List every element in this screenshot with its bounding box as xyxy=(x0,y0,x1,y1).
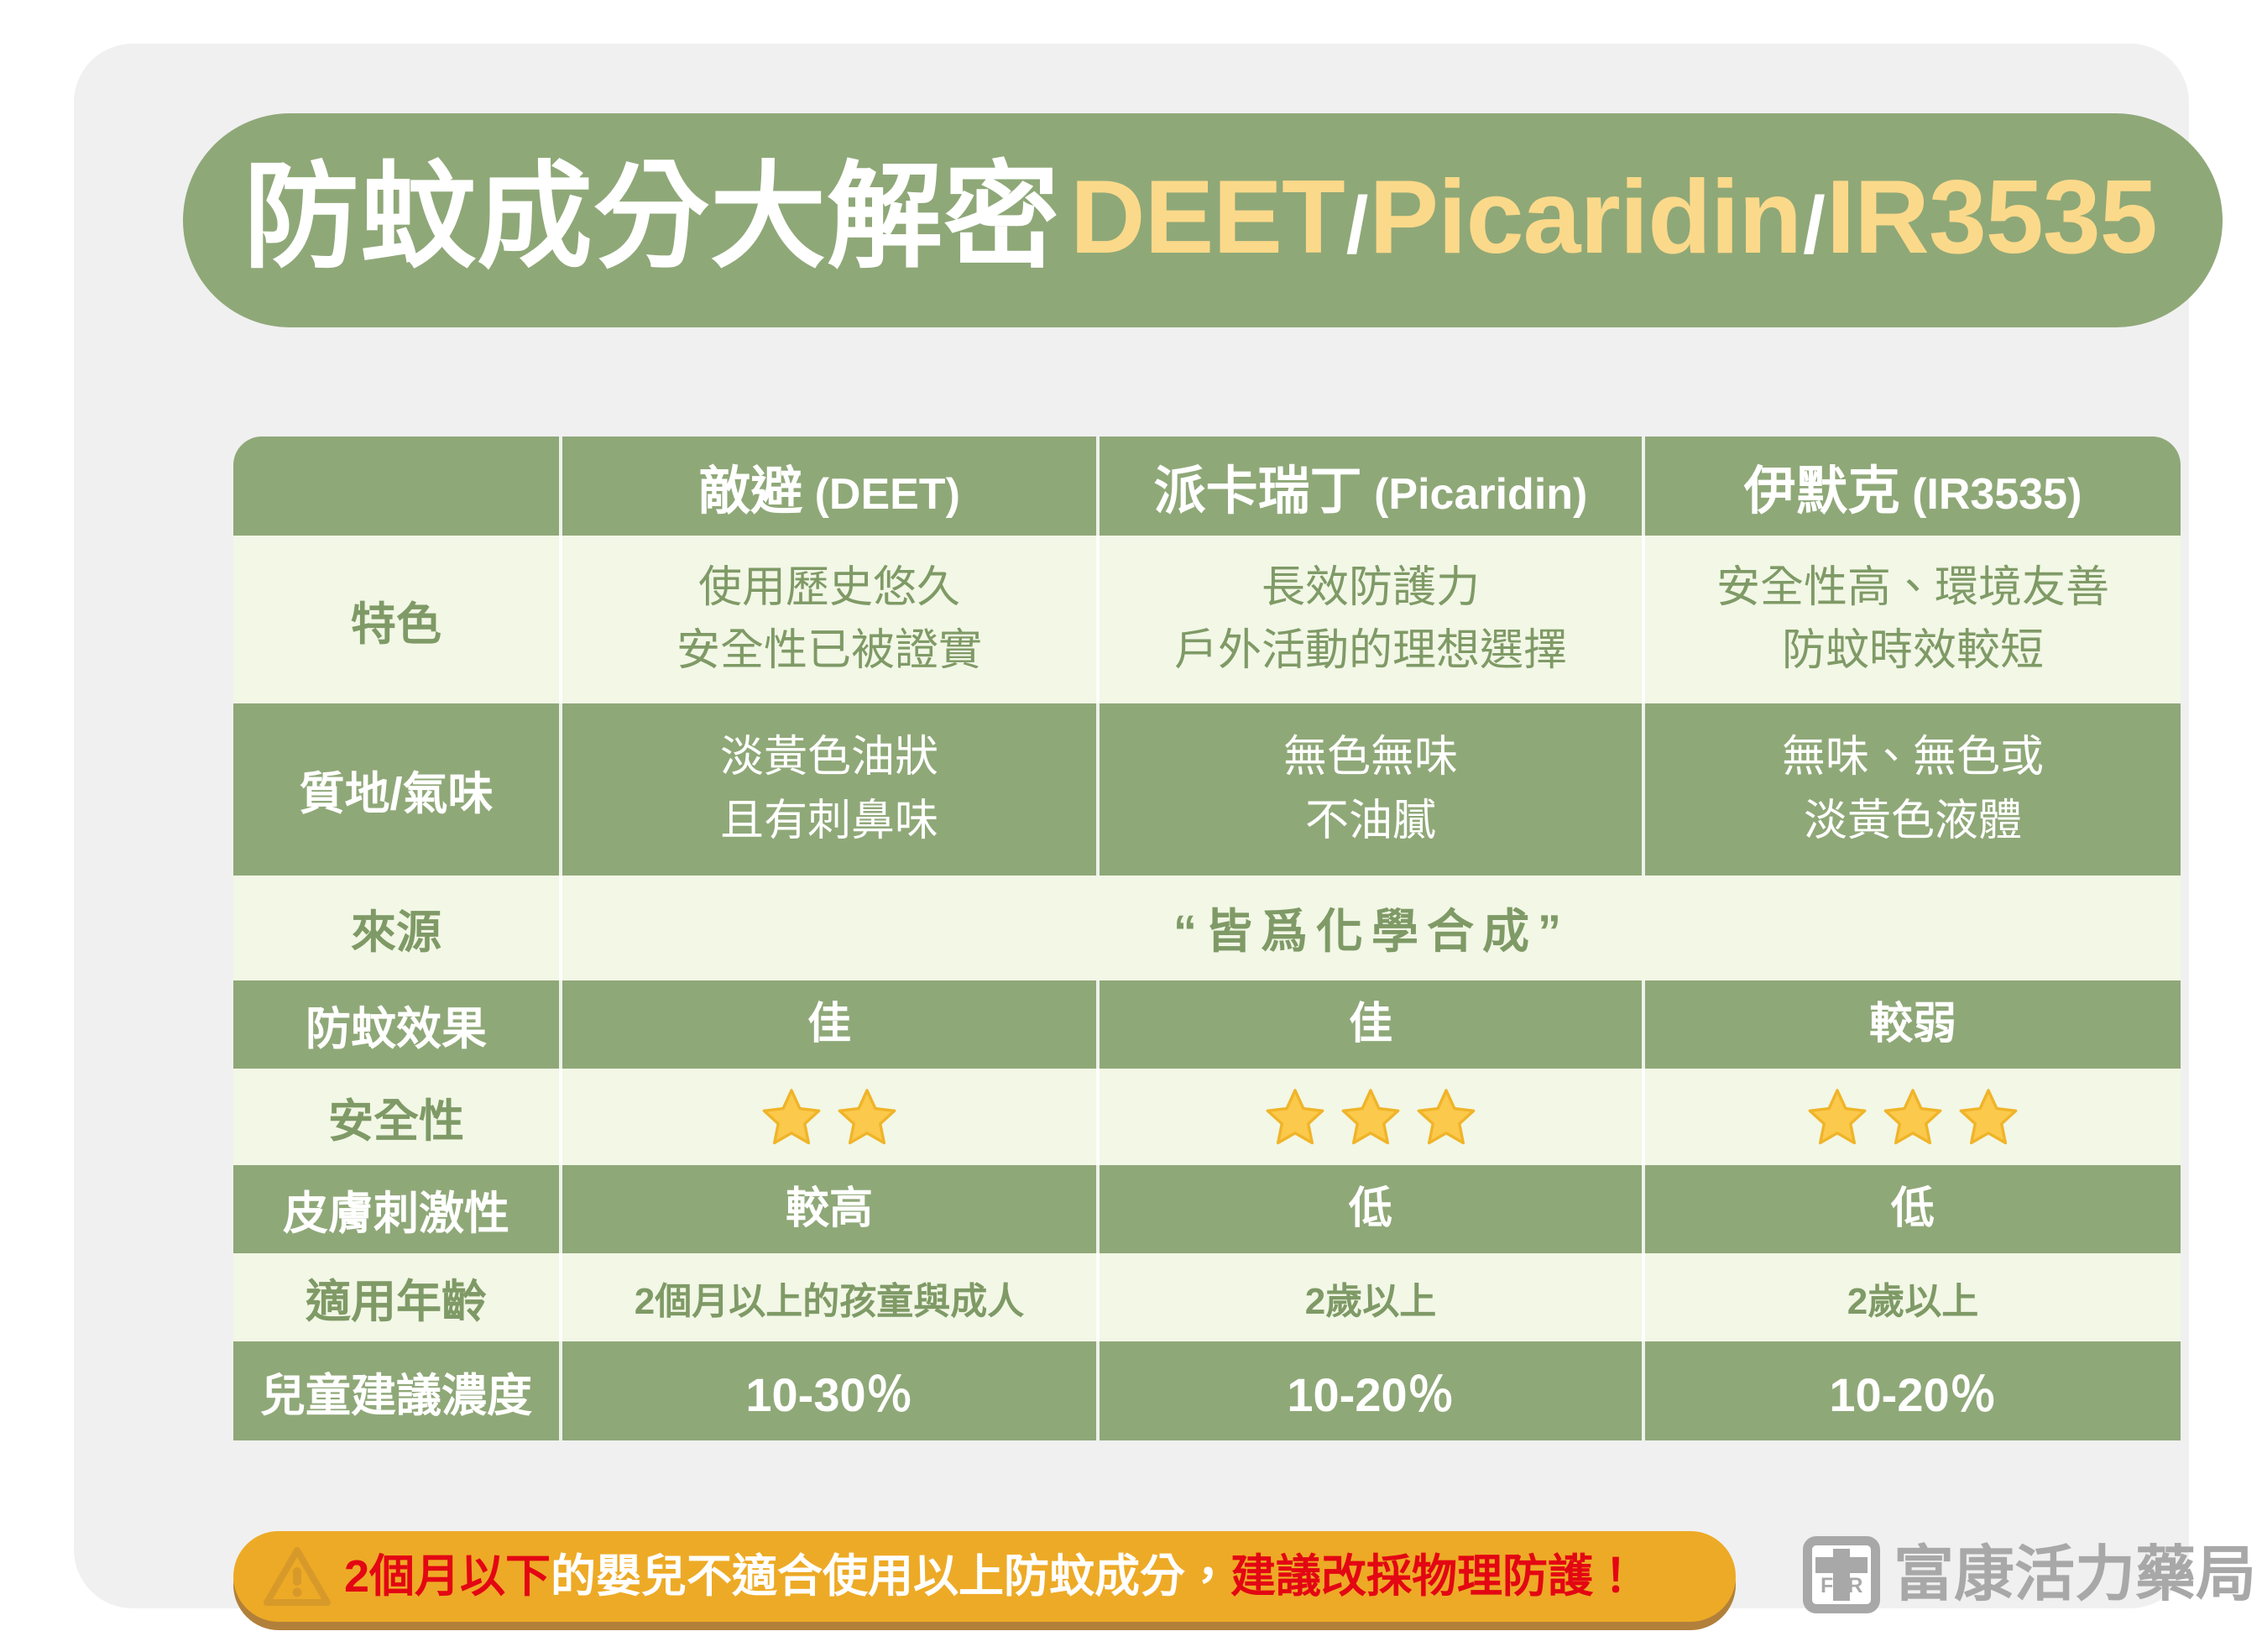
table-row: 兒童建議濃度10-30％10-20％10-20％ xyxy=(233,1341,2181,1440)
table-row: 適用年齡2個月以上的孩童與成人2歲以上2歲以上 xyxy=(233,1253,2181,1341)
brand-logo: FKR 富康活力藥局 xyxy=(1803,1536,2256,1613)
warning-text-highlight-start: 2個月以下 xyxy=(344,1551,551,1602)
row-label-features: 特色 xyxy=(233,536,561,703)
star-icon xyxy=(1340,1086,1402,1148)
cell-text: 佳 xyxy=(807,1000,851,1048)
header-name-en: (DEET) xyxy=(802,470,960,519)
title-en-part-2: Picaridin xyxy=(1369,159,1801,275)
cell-text: 較高 xyxy=(786,1184,873,1233)
comparison-table-wrapper: 敵避 (DEET)派卡瑞丁 (Picaridin)伊默克 (IR3535)特色使… xyxy=(233,437,2181,1504)
row-value-suitable-age-1: 2個月以上的孩童與成人 xyxy=(561,1253,1098,1341)
cell-text: 使用歷史悠久安全性已被證實 xyxy=(677,563,982,675)
warning-text-middle: 的嬰兒不適合使用以上防蚊成分， xyxy=(551,1551,1230,1602)
row-value-child-concentration-1: 10-30％ xyxy=(561,1341,1098,1440)
star-rating xyxy=(562,1086,1096,1148)
star-rating xyxy=(1100,1086,1642,1148)
row-value-texture-odor-3: 無味、無色或淡黃色液體 xyxy=(1643,703,2181,876)
title-banner: 防蚊成分大解密 DEET/Picaridin/IR3535 xyxy=(183,113,2223,327)
title-en-part-1: DEET xyxy=(1070,159,1345,275)
header-name-cn: 伊默克 xyxy=(1744,463,1900,520)
star-icon xyxy=(1264,1086,1326,1148)
row-value-features-2: 長效防護力戶外活動的理想選擇 xyxy=(1098,536,1643,703)
star-icon xyxy=(1882,1086,1944,1148)
cell-text: 2個月以上的孩童與成人 xyxy=(635,1281,1024,1322)
header-name-en: (Picaridin) xyxy=(1362,470,1588,519)
warning-bar: 2個月以下的嬰兒不適合使用以上防蚊成分，建議改採物理防護！ xyxy=(233,1531,1736,1622)
row-label-suitable-age: 適用年齡 xyxy=(233,1253,561,1341)
row-value-texture-odor-2: 無色無味不油膩 xyxy=(1098,703,1643,876)
row-value-effectiveness-3: 較弱 xyxy=(1643,980,2181,1069)
cell-text: 長效防護力戶外活動的理想選擇 xyxy=(1174,563,1567,675)
title-separator-2: / xyxy=(1801,180,1826,270)
cell-text: 低 xyxy=(1349,1184,1392,1233)
star-rating xyxy=(1645,1086,2181,1148)
row-value-safety-3 xyxy=(1643,1069,2181,1165)
warning-text-highlight-end: 建議改採物理防護！ xyxy=(1230,1551,1638,1602)
star-icon xyxy=(1415,1086,1477,1148)
row-value-child-concentration-2: 10-20％ xyxy=(1098,1341,1643,1440)
row-label-safety: 安全性 xyxy=(233,1069,561,1165)
table-row: 安全性 xyxy=(233,1069,2181,1165)
cell-text: 10-20％ xyxy=(1287,1368,1454,1421)
comparison-table: 敵避 (DEET)派卡瑞丁 (Picaridin)伊默克 (IR3535)特色使… xyxy=(233,437,2181,1440)
cross-horizontal-bar xyxy=(1815,1557,1868,1573)
row-label-skin-irritation: 皮膚刺激性 xyxy=(233,1165,561,1253)
row-value-safety-1 xyxy=(561,1069,1098,1165)
star-icon xyxy=(836,1086,898,1148)
table-header-col-2: 派卡瑞丁 (Picaridin) xyxy=(1098,437,1643,536)
source-value: “皆爲化學合成” xyxy=(1173,905,1570,958)
row-value-skin-irritation-2: 低 xyxy=(1098,1165,1643,1253)
star-icon xyxy=(1806,1086,1868,1148)
row-value-source-all: “皆爲化學合成” xyxy=(561,876,2181,980)
table-header-col-3: 伊默克 (IR3535) xyxy=(1643,437,2181,536)
row-value-effectiveness-2: 佳 xyxy=(1098,980,1643,1069)
row-label-texture-odor: 質地/氣味 xyxy=(233,703,561,876)
star-icon xyxy=(760,1086,823,1148)
cell-text: 淡黃色油狀且有刺鼻味 xyxy=(720,733,938,844)
row-label-child-concentration: 兒童建議濃度 xyxy=(233,1341,561,1440)
row-value-texture-odor-1: 淡黃色油狀且有刺鼻味 xyxy=(561,703,1098,876)
cell-text: 2歲以上 xyxy=(1847,1281,1978,1322)
table-body: 敵避 (DEET)派卡瑞丁 (Picaridin)伊默克 (IR3535)特色使… xyxy=(233,437,2181,1440)
header-name-cn: 派卡瑞丁 xyxy=(1154,463,1362,520)
cell-text: 10-20％ xyxy=(1829,1368,1996,1421)
warning-text: 2個月以下的嬰兒不適合使用以上防蚊成分，建議改採物理防護！ xyxy=(344,1554,1638,1599)
page-title-chinese: 防蚊成分大解密 xyxy=(243,159,1060,275)
row-value-safety-2 xyxy=(1098,1069,1643,1165)
table-row: 特色使用歷史悠久安全性已被證實長效防護力戶外活動的理想選擇安全性高、環境友善防蚊… xyxy=(233,536,2181,703)
row-value-suitable-age-3: 2歲以上 xyxy=(1643,1253,2181,1341)
brand-name: 富康活力藥局 xyxy=(1894,1545,2256,1605)
table-header-corner xyxy=(233,437,561,536)
table-header-col-1: 敵避 (DEET) xyxy=(561,437,1098,536)
row-value-skin-irritation-3: 低 xyxy=(1643,1165,2181,1253)
footer: 2個月以下的嬰兒不適合使用以上防蚊成分，建議改採物理防護！ FKR 富康活力藥局 xyxy=(233,1531,2181,1632)
cell-text: 佳 xyxy=(1349,1000,1392,1048)
row-value-features-3: 安全性高、環境友善防蚊時效較短 xyxy=(1643,536,2181,703)
header-name-en: (IR3535) xyxy=(1900,470,2082,519)
pharmacy-cross-icon: FKR xyxy=(1803,1536,1880,1613)
header-name-cn: 敵避 xyxy=(698,463,802,520)
title-en-part-3: IR3535 xyxy=(1826,159,2157,275)
cell-text: 2歲以上 xyxy=(1305,1281,1436,1322)
row-value-skin-irritation-1: 較高 xyxy=(561,1165,1098,1253)
star-icon xyxy=(1957,1086,2019,1148)
row-value-features-1: 使用歷史悠久安全性已被證實 xyxy=(561,536,1098,703)
infographic-card: 防蚊成分大解密 DEET/Picaridin/IR3535 敵避 (DEET)派… xyxy=(74,44,2189,1608)
warning-triangle-icon xyxy=(262,1544,332,1609)
table-row: 防蚊效果佳佳較弱 xyxy=(233,980,2181,1069)
row-value-effectiveness-1: 佳 xyxy=(561,980,1098,1069)
row-value-suitable-age-2: 2歲以上 xyxy=(1098,1253,1643,1341)
table-row: 來源“皆爲化學合成” xyxy=(233,876,2181,980)
cell-text: 較弱 xyxy=(1869,1000,1956,1048)
row-label-effectiveness: 防蚊效果 xyxy=(233,980,561,1069)
page-title-english: DEET/Picaridin/IR3535 xyxy=(1070,165,2157,269)
cell-text: 10-30％ xyxy=(745,1368,912,1421)
table-header-row: 敵避 (DEET)派卡瑞丁 (Picaridin)伊默克 (IR3535) xyxy=(233,437,2181,536)
cell-text: 安全性高、環境友善防蚊時效較短 xyxy=(1716,563,2109,675)
cell-text: 無味、無色或淡黃色液體 xyxy=(1782,733,2044,844)
brand-abbreviation: FKR xyxy=(1812,1574,1871,1598)
cell-text: 無色無味不油膩 xyxy=(1283,733,1458,844)
table-row: 質地/氣味淡黃色油狀且有刺鼻味無色無味不油膩無味、無色或淡黃色液體 xyxy=(233,703,2181,876)
title-separator-1: / xyxy=(1345,180,1370,270)
row-label-source: 來源 xyxy=(233,876,561,980)
table-row: 皮膚刺激性較高低低 xyxy=(233,1165,2181,1253)
row-value-child-concentration-3: 10-20％ xyxy=(1643,1341,2181,1440)
cell-text: 低 xyxy=(1891,1184,1935,1233)
